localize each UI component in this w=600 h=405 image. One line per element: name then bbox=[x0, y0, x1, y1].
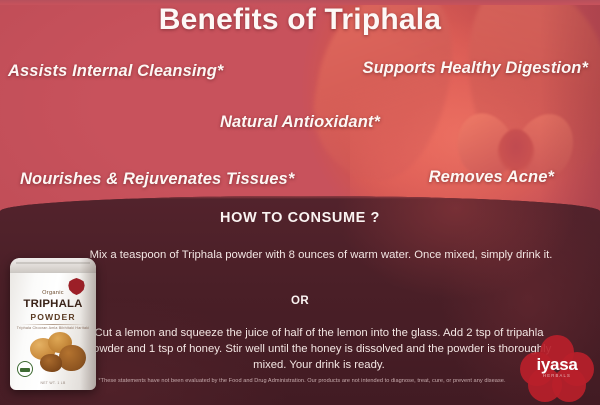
benefit-natural-antioxidant: Natural Antioxidant* bbox=[0, 113, 600, 132]
usda-organic-icon bbox=[17, 361, 33, 377]
benefit-healthy-digestion: Supports Healthy Digestion* bbox=[363, 59, 588, 78]
dried-fruit-shape bbox=[40, 354, 62, 372]
brand-tagline: HERBALS bbox=[520, 373, 594, 378]
triphala-infographic: Benefits of Triphala Assists Internal Cl… bbox=[0, 0, 600, 405]
brand-name: iyasa bbox=[520, 355, 594, 375]
pouch-seal-line bbox=[16, 262, 90, 264]
brand-logo: iyasa HERBALS bbox=[520, 335, 594, 401]
consume-method-two: Cut a lemon and squeeze the juice of hal… bbox=[84, 325, 554, 373]
benefit-nourishes-tissues: Nourishes & Rejuvenates Tissues* bbox=[20, 170, 294, 189]
how-to-consume-heading: HOW TO CONSUME ? bbox=[0, 210, 600, 226]
pouch-side-shading bbox=[80, 258, 96, 390]
pouch-divider bbox=[20, 324, 86, 325]
consume-method-one: Mix a teaspoon of Triphala powder with 8… bbox=[88, 247, 554, 263]
panel-top-highlight bbox=[0, 196, 600, 199]
pouch-fruit-illustration bbox=[26, 332, 88, 374]
product-pouch-image: Organic TRIPHALA POWDER Triphala Chooran… bbox=[10, 258, 96, 390]
page-title: Benefits of Triphala bbox=[0, 3, 600, 37]
benefit-internal-cleansing: Assists Internal Cleansing* bbox=[8, 62, 223, 81]
benefit-removes-acne: Removes Acne* bbox=[429, 168, 554, 187]
fda-disclaimer: *These statements have not been evaluate… bbox=[92, 377, 512, 386]
